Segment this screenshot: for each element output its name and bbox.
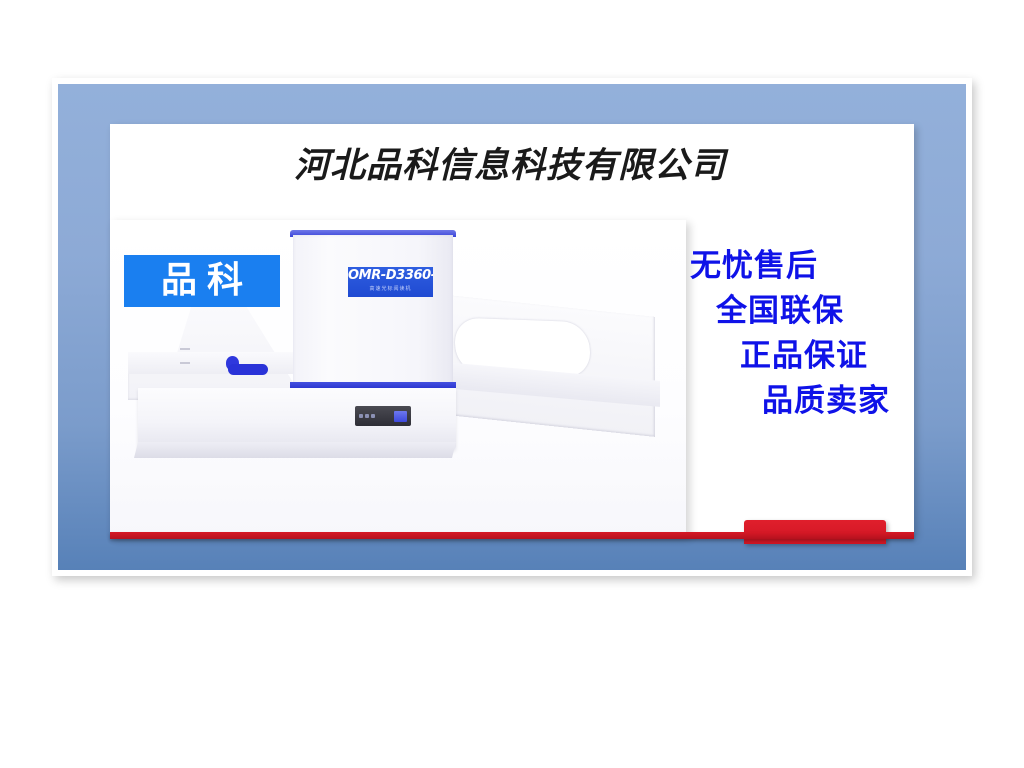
white-content-panel: 河北品科信息科技有限公司 bbox=[110, 124, 914, 536]
page-title: 河北品科信息科技有限公司 bbox=[230, 146, 790, 186]
brand-logo-badge: 品科 bbox=[124, 255, 280, 307]
input-tray-marking bbox=[180, 348, 190, 350]
paper-feed-lever bbox=[228, 364, 268, 375]
blue-gradient-frame: 河北品科信息科技有限公司 bbox=[58, 84, 966, 570]
slogan-item: 全国联保 bbox=[690, 289, 914, 334]
model-badge: OMR-D3360-D 高速光标阅读机 bbox=[348, 267, 433, 297]
input-tray-marking bbox=[180, 362, 190, 364]
device-base-skirt bbox=[134, 442, 456, 458]
product-photo-panel: OMR-D3360-D 高速光标阅读机 bbox=[110, 220, 686, 536]
model-subtitle-text: 高速光标阅读机 bbox=[348, 285, 433, 293]
slogan-item: 品质卖家 bbox=[690, 379, 914, 424]
control-panel bbox=[355, 406, 411, 426]
device-upright-body bbox=[293, 235, 453, 387]
model-name-text: OMR-D3360-D bbox=[348, 267, 433, 285]
slogan-list: 无忧售后 全国联保 正品保证 品质卖家 bbox=[690, 244, 914, 424]
status-led-group bbox=[359, 414, 394, 418]
status-led bbox=[365, 414, 369, 418]
outer-frame: 河北品科信息科技有限公司 bbox=[52, 78, 972, 576]
status-led bbox=[359, 414, 363, 418]
banner-canvas: 河北品科信息科技有限公司 bbox=[0, 0, 1024, 768]
slogan-item: 无忧售后 bbox=[690, 244, 914, 289]
power-button bbox=[394, 411, 407, 422]
red-accent-strip bbox=[110, 532, 914, 539]
status-led bbox=[371, 414, 375, 418]
slogan-item: 正品保证 bbox=[690, 334, 914, 379]
input-tray-edge bbox=[128, 352, 304, 374]
